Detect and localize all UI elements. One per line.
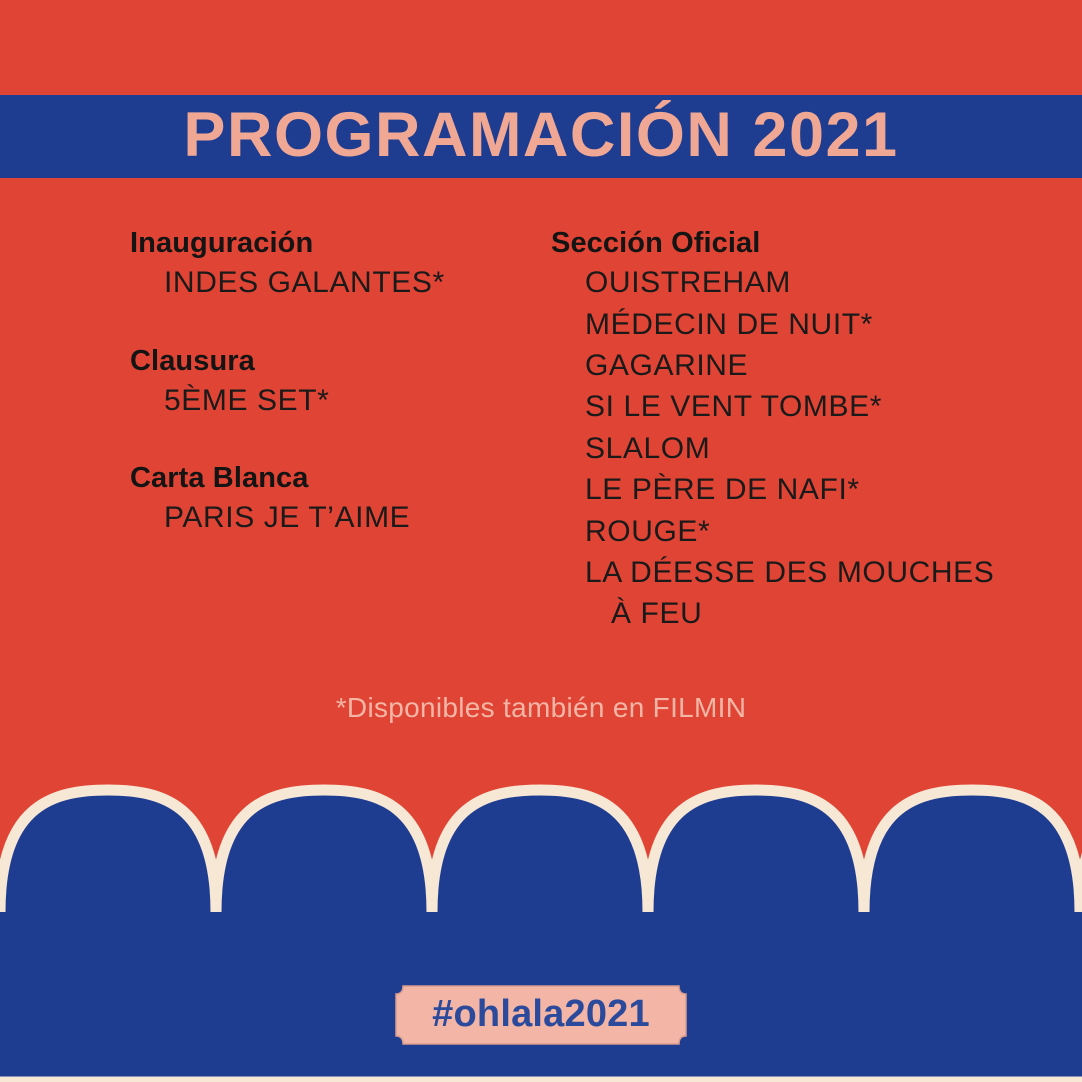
film-list-carta-blanca: PARIS JE T’AIME [130, 497, 530, 538]
title-banner: PROGRAMACIÓN 2021 [0, 95, 1082, 178]
footnote-filmin: *Disponibles también en FILMIN [0, 692, 1082, 724]
list-item: LE PÈRE DE NAFI* [585, 469, 1051, 510]
list-item: ROUGE* [585, 511, 1051, 552]
list-item: INDES GALANTES* [164, 262, 530, 303]
column-left: Inauguración INDES GALANTES* Clausura 5È… [130, 226, 530, 539]
list-item: OUISTREHAM [585, 262, 1051, 303]
section-group-clausura: Clausura 5ÈME SET* [130, 344, 530, 422]
list-item: À FEU [585, 593, 1051, 634]
poster-canvas: PROGRAMACIÓN 2021 Inauguración INDES GAL… [0, 0, 1082, 1082]
page-title: PROGRAMACIÓN 2021 [183, 104, 898, 167]
hashtag-badge-label: #ohlala2021 [391, 983, 691, 1047]
section-title-seccion-oficial: Sección Oficial [551, 226, 1051, 260]
film-list-seccion-oficial: OUISTREHAM MÉDECIN DE NUIT* GAGARINE SI … [551, 262, 1051, 635]
list-item: PARIS JE T’AIME [164, 497, 530, 538]
list-item: GAGARINE [585, 345, 1051, 386]
section-group-inauguracion: Inauguración INDES GALANTES* [130, 226, 530, 304]
hashtag-badge[interactable]: #ohlala2021 [391, 983, 691, 1047]
section-title-clausura: Clausura [130, 344, 530, 378]
list-item: 5ÈME SET* [164, 380, 530, 421]
list-item: MÉDECIN DE NUIT* [585, 304, 1051, 345]
programme-columns: Inauguración INDES GALANTES* Clausura 5È… [0, 226, 1082, 656]
list-item: SLALOM [585, 428, 1051, 469]
section-group-carta-blanca: Carta Blanca PARIS JE T’AIME [130, 461, 530, 539]
list-item: SI LE VENT TOMBE* [585, 386, 1051, 427]
column-right: Sección Oficial OUISTREHAM MÉDECIN DE NU… [551, 226, 1051, 635]
film-list-inauguracion: INDES GALANTES* [130, 262, 530, 303]
list-item: LA DÉESSE DES MOUCHES [585, 552, 1051, 593]
section-title-carta-blanca: Carta Blanca [130, 461, 530, 495]
film-list-clausura: 5ÈME SET* [130, 380, 530, 421]
section-title-inauguracion: Inauguración [130, 226, 530, 260]
section-group-seccion-oficial: Sección Oficial OUISTREHAM MÉDECIN DE NU… [551, 226, 1051, 635]
